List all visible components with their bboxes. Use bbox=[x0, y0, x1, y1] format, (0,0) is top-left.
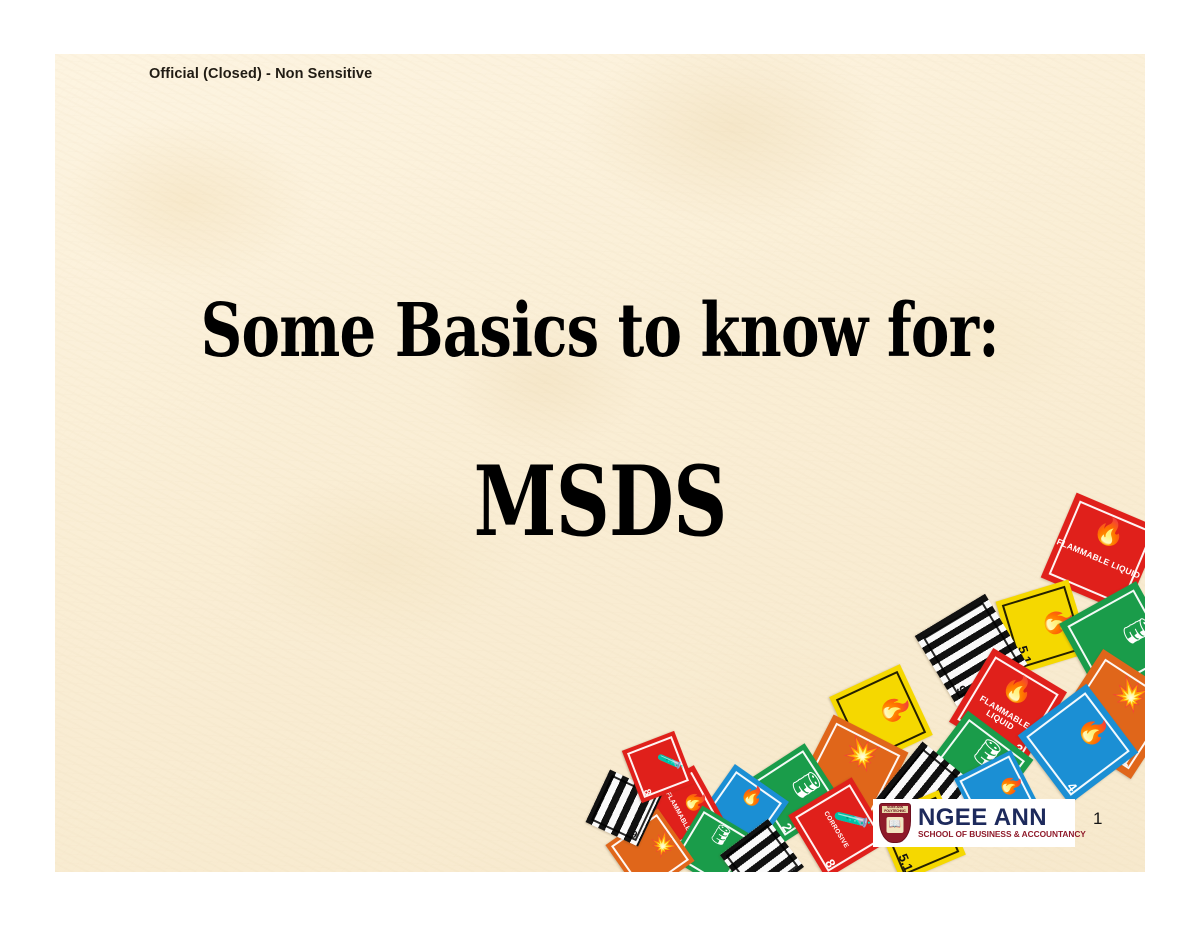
slide-surface: Official (Closed) - Non Sensitive Some B… bbox=[55, 54, 1145, 872]
logo-name: NGEE ANN bbox=[918, 807, 1069, 830]
logo-text-block: NGEE ANN SCHOOL OF BUSINESS & ACCOUNTANC… bbox=[918, 807, 1069, 839]
crest-motto-text: NGEE ANN POLYTECHNIC bbox=[882, 806, 908, 813]
page-number: 1 bbox=[1093, 809, 1102, 829]
slide-canvas: Official (Closed) - Non Sensitive Some B… bbox=[0, 0, 1200, 927]
logo-tagline: SCHOOL OF BUSINESS & ACCOUNTANCY bbox=[918, 830, 1064, 839]
page-title-line-1: Some Basics to know for: bbox=[201, 294, 999, 368]
crest-icon: NGEE ANN POLYTECHNIC 📖 bbox=[879, 803, 911, 843]
classification-banner: Official (Closed) - Non Sensitive bbox=[149, 66, 372, 82]
title-line-1-container: Some Basics to know for: bbox=[55, 294, 1145, 368]
open-book-icon: 📖 bbox=[887, 817, 904, 833]
institution-logo: NGEE ANN POLYTECHNIC 📖 NGEE ANN SCHOOL O… bbox=[873, 799, 1075, 847]
